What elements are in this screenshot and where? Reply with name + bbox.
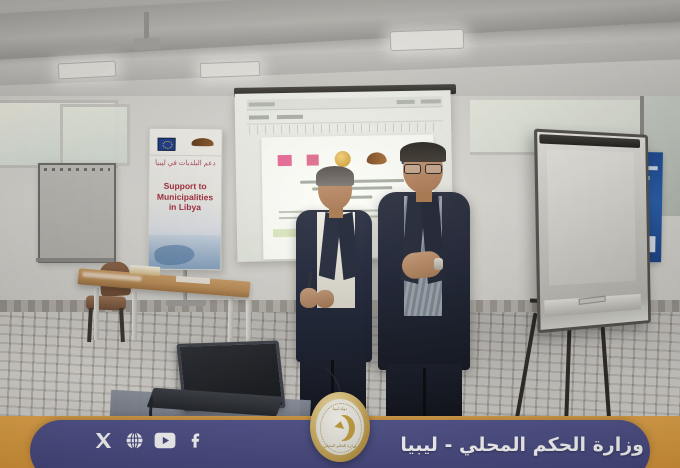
flipchart-easel [534,129,651,334]
website-globe-icon[interactable] [123,429,145,451]
flipchart-paper [547,149,636,286]
wristwatch-icon [434,258,443,270]
eyeglasses-icon [404,164,442,172]
roll-up-banner: دعم البلديات في ليبيا Support to Municip… [147,128,222,271]
x-twitter-icon[interactable] [92,429,114,451]
banner-bottom-graphic [148,235,220,270]
person-right-hair [400,142,446,162]
partner-swoosh-logo-icon [366,152,386,164]
youtube-icon[interactable] [154,429,176,451]
banner-arabic-title: دعم البلديات في ليبيا [149,159,221,169]
banner-graphic-shape [154,243,196,267]
wall-window [60,104,130,166]
partner-swoosh-logo-icon [192,137,214,151]
banner-english-line: Support to [149,181,221,192]
banner-english-line: in Libya [149,202,221,213]
wall-flipchart-base [36,258,114,262]
ceiling-light-fixture [58,60,117,79]
social-links[interactable] [92,426,207,454]
banner-logo-row [149,133,221,157]
ceiling-light-fixture [390,29,465,52]
table-leg [228,298,234,346]
partner-logo-pink-icon [277,154,291,165]
photo-screenshot: دعم البلديات في ليبيا Support to Municip… [0,0,680,468]
table-leg [94,288,99,340]
flipchart-clamp [539,134,640,148]
partner-logo-magenta-icon [307,154,319,165]
crescent-and-star-icon [327,415,349,441]
banner-english-line: Municipalities [149,191,221,202]
person-left-hair [316,166,354,186]
emblem-top-text: دولة ليبيا [310,406,370,411]
ministry-label: وزارة الحكم المحلي - ليبيا [400,434,644,456]
emblem-bottom-text: وزارة الحكم المحلي [310,443,370,448]
wall-mounted-flipchart [38,163,116,263]
table-leg [132,292,137,340]
projected-document-ruler [249,122,441,134]
banner-english-title: Support to Municipalities in Libya [149,181,221,213]
libya-state-emblem: دولة ليبيا وزارة الحكم المحلي [310,392,370,462]
facebook-icon[interactable] [185,429,207,451]
eu-flag-logo-icon [158,137,176,150]
person-left-hand [316,290,334,308]
ceiling-light-fixture [200,61,260,78]
partner-logo-gold-seal-icon [335,151,351,167]
projector-mount-arm [144,12,149,40]
ceiling-projector [134,37,161,50]
banner-stand-base [166,300,206,306]
table-leg [246,300,251,344]
